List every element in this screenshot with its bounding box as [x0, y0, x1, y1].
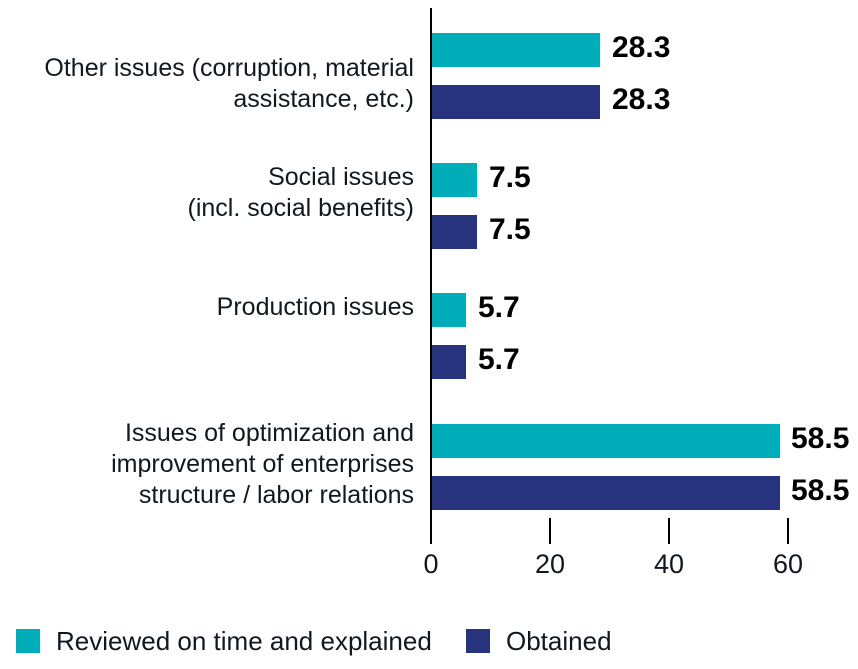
bar-value-series-b: 58.5: [791, 474, 849, 508]
x-tick-label: 60: [773, 548, 803, 580]
bar-series-a: [432, 293, 466, 327]
bar-series-a: [432, 424, 780, 458]
x-tick-mark: [430, 518, 432, 544]
bar-series-b: [432, 85, 600, 119]
legend-swatch-icon: [16, 629, 40, 653]
chart-legend: Reviewed on time and explained Obtained: [0, 620, 858, 669]
x-tick-mark: [549, 518, 551, 544]
category-label: Social issues (incl. social benefits): [8, 162, 428, 224]
x-tick-mark: [668, 518, 670, 544]
bar-value-series-a: 5.7: [478, 291, 520, 325]
x-axis: 0 20 40 60: [0, 518, 858, 580]
bar-series-a: [432, 163, 477, 197]
x-tick-label: 0: [423, 548, 438, 580]
legend-item-obtained: Obtained: [466, 620, 612, 662]
category-label: Other issues (corruption, material assis…: [8, 53, 428, 115]
bar-series-b: [432, 215, 477, 249]
legend-item-reviewed: Reviewed on time and explained: [16, 620, 432, 662]
category-label: Issues of optimization and improvement o…: [8, 418, 428, 511]
x-tick-mark: [787, 518, 789, 544]
x-tick-label: 20: [535, 548, 565, 580]
category-label: Production issues: [8, 292, 428, 323]
bar-value-series-a: 58.5: [791, 422, 849, 456]
category-group: Production issues 5.7 5.7: [0, 286, 858, 386]
bar-chart: Other issues (corruption, material assis…: [0, 0, 858, 669]
category-group: Social issues (incl. social benefits) 7.…: [0, 156, 858, 256]
legend-label: Reviewed on time and explained: [56, 626, 432, 656]
bar-value-series-a: 7.5: [489, 161, 531, 195]
bar-series-b: [432, 345, 466, 379]
category-group: Issues of optimization and improvement o…: [0, 417, 858, 517]
legend-label: Obtained: [506, 626, 612, 656]
bar-value-series-b: 7.5: [489, 213, 531, 247]
bar-series-b: [432, 476, 780, 510]
bar-series-a: [432, 33, 600, 67]
category-group: Other issues (corruption, material assis…: [0, 26, 858, 126]
x-tick-label: 40: [654, 548, 684, 580]
bar-value-series-a: 28.3: [612, 31, 670, 65]
plot-area: Other issues (corruption, material assis…: [0, 0, 858, 580]
legend-swatch-icon: [466, 629, 490, 653]
bar-value-series-b: 5.7: [478, 343, 520, 377]
bar-value-series-b: 28.3: [612, 83, 670, 117]
